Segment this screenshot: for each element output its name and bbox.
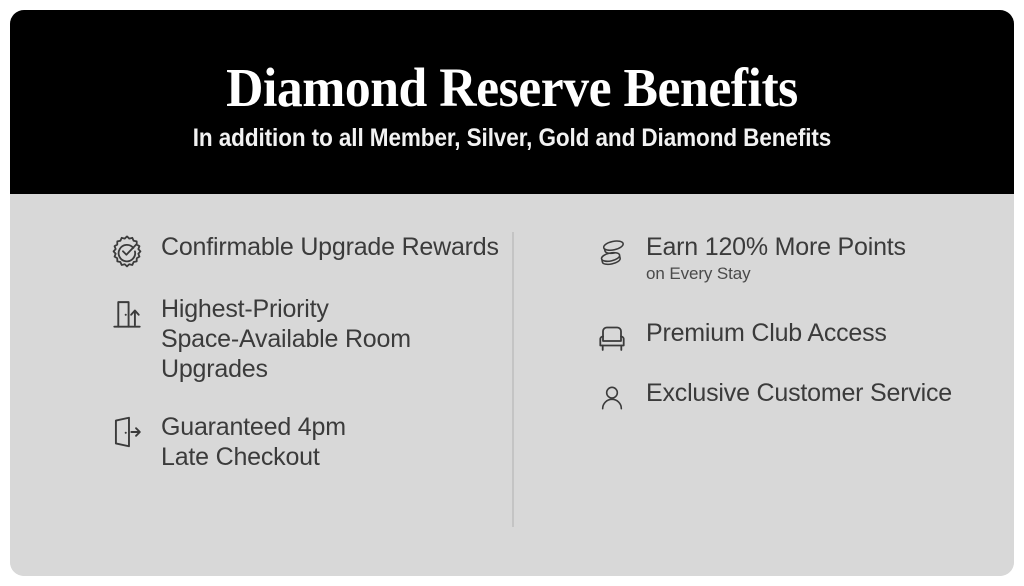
benefits-card: Diamond Reserve Benefits In addition to …	[10, 10, 1014, 576]
benefit-item: Earn 120% More Points on Every Stay	[590, 230, 906, 285]
benefit-labels: Exclusive Customer Service	[646, 376, 952, 408]
benefit-subtitle: on Every Stay	[646, 263, 906, 285]
benefit-item: Confirmable Upgrade Rewards	[105, 230, 499, 274]
verified-badge-icon	[105, 230, 149, 274]
benefit-title: Exclusive Customer Service	[646, 378, 952, 408]
benefit-item: Premium Club Access	[590, 316, 887, 360]
door-exit-arrow-icon	[105, 410, 149, 454]
benefit-title: Earn 120% More Points	[646, 232, 906, 262]
benefit-labels: Guaranteed 4pm Late Checkout	[161, 410, 346, 472]
benefit-item: Exclusive Customer Service	[590, 376, 952, 420]
column-divider	[512, 232, 514, 527]
benefit-item: Highest-Priority Space-Available Room Up…	[105, 292, 411, 384]
benefit-title: Premium Club Access	[646, 318, 887, 348]
benefit-labels: Earn 120% More Points on Every Stay	[646, 230, 906, 285]
door-upgrade-arrow-icon	[105, 292, 149, 336]
person-icon	[590, 376, 634, 420]
benefit-labels: Confirmable Upgrade Rewards	[161, 230, 499, 262]
benefit-title: Guaranteed 4pm Late Checkout	[161, 412, 346, 472]
page-subtitle: In addition to all Member, Silver, Gold …	[60, 122, 964, 154]
benefit-title: Highest-Priority Space-Available Room Up…	[161, 294, 411, 384]
benefit-labels: Premium Club Access	[646, 316, 887, 348]
benefit-title: Confirmable Upgrade Rewards	[161, 232, 499, 262]
benefit-labels: Highest-Priority Space-Available Room Up…	[161, 292, 411, 384]
benefit-item: Guaranteed 4pm Late Checkout	[105, 410, 346, 472]
benefits-body: Confirmable Upgrade Rewards Highest-Prio…	[10, 194, 1014, 576]
coins-stack-icon	[590, 230, 634, 274]
page-title: Diamond Reserve Benefits	[40, 58, 984, 118]
armchair-icon	[590, 316, 634, 360]
card-header: Diamond Reserve Benefits In addition to …	[10, 10, 1014, 194]
